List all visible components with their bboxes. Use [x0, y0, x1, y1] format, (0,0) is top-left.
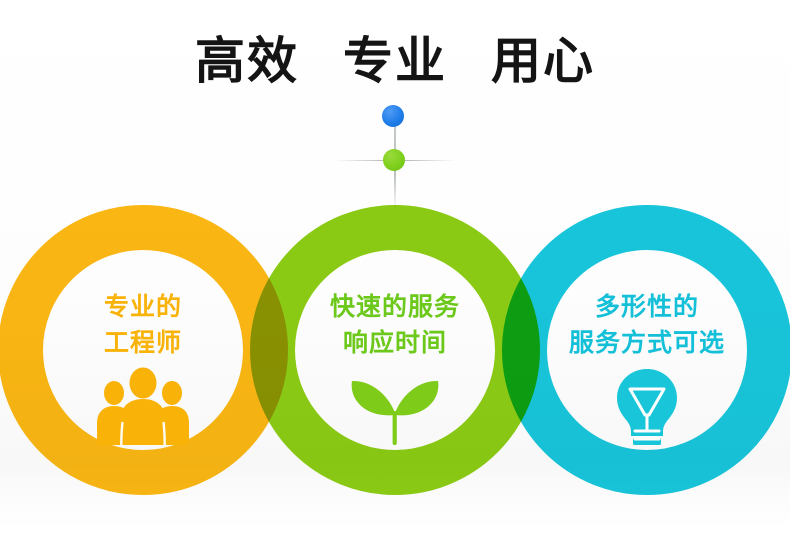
ring-engineers[interactable] [0, 205, 288, 495]
venn-rings [0, 0, 790, 557]
infographic-canvas: 高效专业用心 专业的 工程师 [0, 0, 790, 557]
ring-response-time[interactable] [250, 205, 540, 495]
ring-service-options[interactable] [502, 205, 790, 495]
